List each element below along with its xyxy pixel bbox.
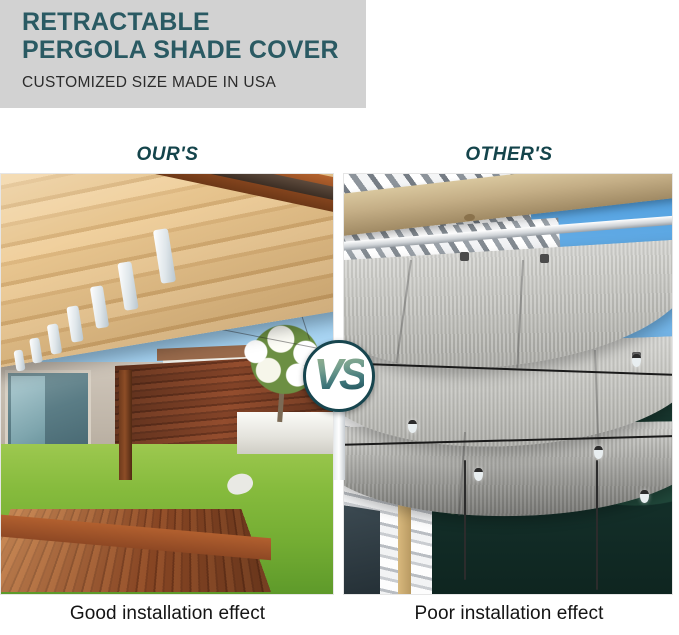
- photo-ours: [0, 173, 334, 595]
- vs-label: VS: [314, 353, 365, 397]
- string-light-bulb: [474, 468, 483, 481]
- cloth-mount-clip: [540, 254, 549, 263]
- vs-badge: VS: [303, 340, 375, 412]
- scene-poor-installation: [344, 174, 672, 594]
- scene-good-installation: [1, 174, 333, 594]
- column-heading-others: OTHER'S: [344, 144, 674, 166]
- string-light-bulb: [632, 354, 641, 367]
- pergola-post: [119, 370, 132, 480]
- product-title: RETRACTABLE PERGOLA SHADE COVER: [22, 8, 339, 64]
- string-light-bulb: [408, 420, 417, 433]
- caption-good-installation: Good installation effect: [0, 603, 335, 625]
- product-subtitle: CUSTOMIZED SIZE MADE IN USA: [22, 74, 276, 92]
- hanging-wire: [596, 460, 598, 590]
- hanging-wire: [464, 460, 466, 580]
- white-planter-box: [237, 412, 334, 454]
- header-banner: RETRACTABLE PERGOLA SHADE COVER CUSTOMIZ…: [0, 0, 366, 108]
- caption-poor-installation: Poor installation effect: [344, 603, 674, 625]
- photo-others: [343, 173, 673, 595]
- string-light-bulb: [640, 490, 649, 503]
- column-heading-ours: OUR'S: [0, 144, 335, 166]
- house-window: [343, 504, 380, 595]
- cloth-mount-clip: [460, 252, 469, 261]
- vs-badge-stem: [334, 400, 345, 480]
- string-light-bulb: [594, 446, 603, 459]
